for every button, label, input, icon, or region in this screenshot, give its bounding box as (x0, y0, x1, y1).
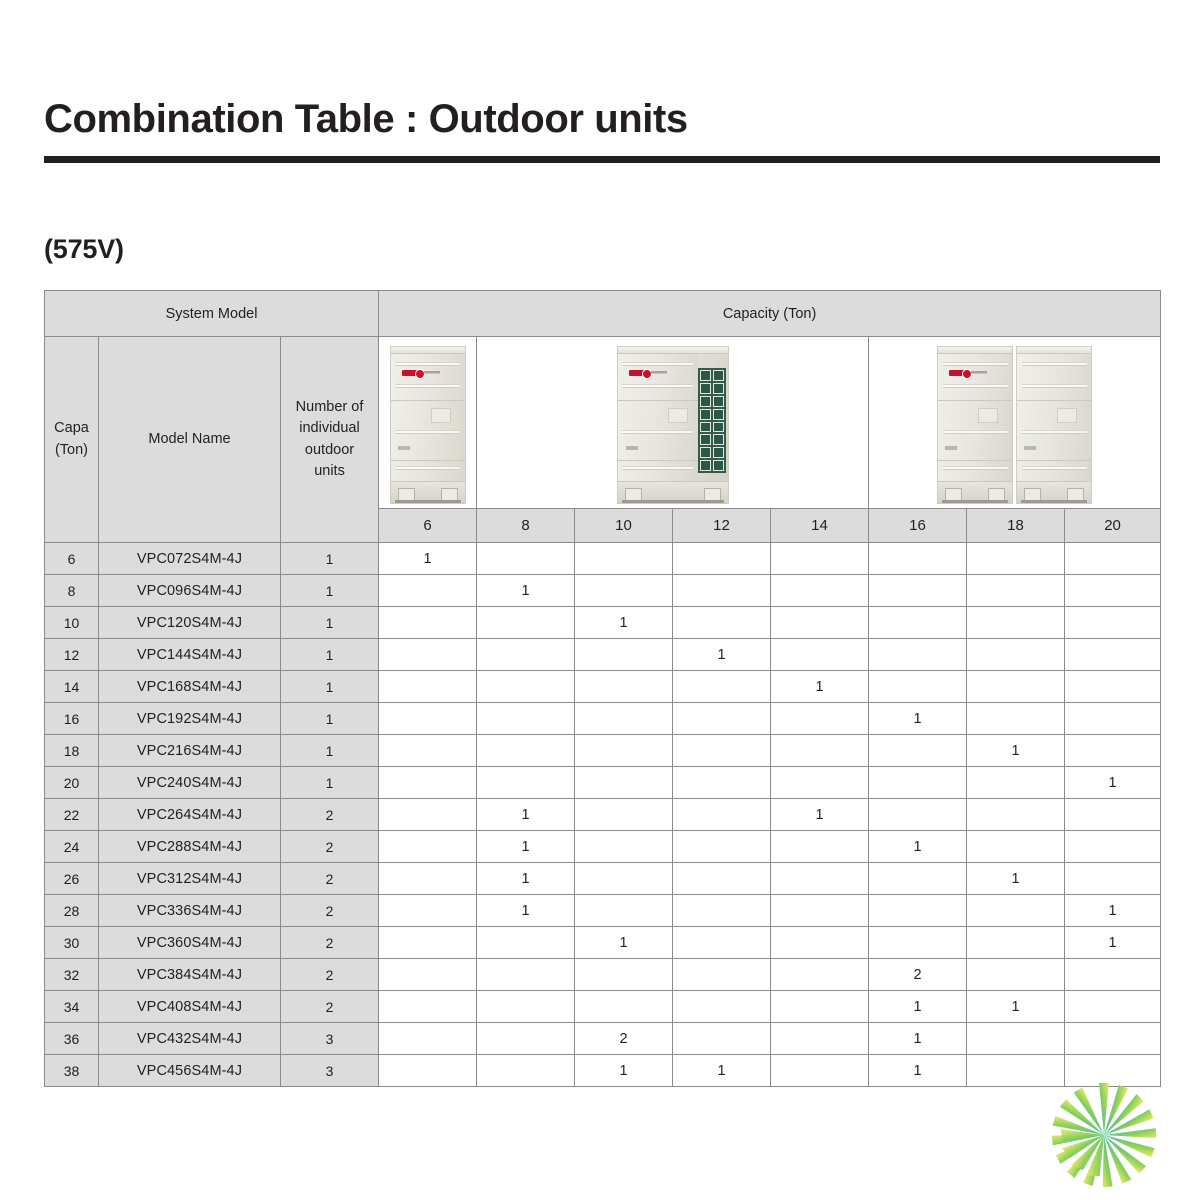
cell-capacity-20 (1065, 863, 1161, 895)
cell-capacity-14 (771, 607, 869, 639)
cell-unit-count: 2 (281, 927, 379, 959)
unit-stage-1 (379, 337, 476, 508)
cell-model-name: VPC456S4M-4J (99, 1055, 281, 1087)
cell-capacity-16 (869, 863, 967, 895)
unit-base (618, 481, 728, 503)
cell-model-name: VPC360S4M-4J (99, 927, 281, 959)
unit-front-panel (938, 354, 1012, 481)
cell-capacity-6 (379, 671, 477, 703)
unit-louver (1022, 362, 1087, 366)
unit-rail (1021, 500, 1087, 503)
cell-capacity-16 (869, 895, 967, 927)
header-capacity: Capacity (Ton) (379, 291, 1161, 337)
cell-capacity-12 (673, 1023, 771, 1055)
cell-capa: 8 (45, 575, 99, 607)
cell-capacity-10 (575, 703, 673, 735)
capacity-col-header-12: 12 (673, 509, 771, 543)
header-units-line4: units (314, 463, 345, 479)
cell-capacity-16 (869, 767, 967, 799)
cell-capacity-20 (1065, 703, 1161, 735)
unit-louver (943, 362, 1008, 366)
cell-capacity-12 (673, 735, 771, 767)
table-head: System Model Capacity (Ton) Capa (Ton) M… (45, 291, 1161, 543)
header-units-line3: outdoor (305, 442, 354, 458)
grille-cell (700, 396, 711, 407)
cell-capacity-18: 1 (967, 991, 1065, 1023)
cell-unit-count: 2 (281, 959, 379, 991)
lennox-wordmark-icon (651, 371, 667, 376)
cell-capacity-6 (379, 959, 477, 991)
cell-capacity-14 (771, 959, 869, 991)
cell-model-name: VPC384S4M-4J (99, 959, 281, 991)
cell-capacity-6 (379, 1023, 477, 1055)
unit-base (1017, 481, 1091, 503)
unit-louver (395, 362, 460, 366)
cell-capacity-18 (967, 895, 1065, 927)
unit-seam (1017, 400, 1091, 401)
cell-unit-count: 1 (281, 735, 379, 767)
cell-capacity-20 (1065, 831, 1161, 863)
grille-cell (713, 460, 724, 471)
cell-capacity-10: 2 (575, 1023, 673, 1055)
cell-capacity-8: 1 (477, 863, 575, 895)
unit-vent-icon (626, 446, 638, 450)
lennox-logo-icon (949, 370, 987, 376)
outdoor-unit-illustration (1016, 346, 1092, 504)
page-root: Combination Table : Outdoor units (575V) (0, 0, 1200, 1200)
cell-capacity-14 (771, 735, 869, 767)
table-row: 24VPC288S4M-4J211 (45, 831, 1161, 863)
cell-model-name: VPC264S4M-4J (99, 799, 281, 831)
cell-capacity-18 (967, 703, 1065, 735)
grille-cell (700, 434, 711, 445)
cell-capacity-20 (1065, 671, 1161, 703)
cell-capacity-8 (477, 607, 575, 639)
cell-capacity-8: 1 (477, 575, 575, 607)
cell-unit-count: 1 (281, 543, 379, 575)
cell-capacity-10 (575, 639, 673, 671)
cell-capacity-18 (967, 639, 1065, 671)
table-row: 6VPC072S4M-4J11 (45, 543, 1161, 575)
cell-capacity-6 (379, 639, 477, 671)
table-row: 28VPC336S4M-4J211 (45, 895, 1161, 927)
cell-capa: 18 (45, 735, 99, 767)
unit-top-cap (391, 347, 465, 354)
unit-seam (618, 460, 698, 461)
header-model-name: Model Name (99, 337, 281, 543)
title-divider (44, 156, 1160, 163)
outdoor-unit-illustration (937, 346, 1013, 504)
cell-capacity-16 (869, 607, 967, 639)
table-body: 6VPC072S4M-4J118VPC096S4M-4J1110VPC120S4… (45, 543, 1161, 1087)
cell-capacity-6 (379, 991, 477, 1023)
table-row: 14VPC168S4M-4J11 (45, 671, 1161, 703)
cell-capacity-18 (967, 671, 1065, 703)
header-capa-line1: Capa (54, 420, 89, 436)
cell-capacity-20 (1065, 575, 1161, 607)
cell-capacity-12 (673, 767, 771, 799)
starburst-logo (1042, 1080, 1172, 1190)
cell-capacity-12 (673, 607, 771, 639)
cell-capacity-10 (575, 575, 673, 607)
unit-louver (1022, 430, 1087, 434)
cell-capa: 10 (45, 607, 99, 639)
cell-capacity-6 (379, 1055, 477, 1087)
outdoor-unit-image-single-large (477, 337, 869, 509)
cell-capacity-10: 1 (575, 927, 673, 959)
grille-cell (713, 396, 724, 407)
cell-capacity-10 (575, 543, 673, 575)
cell-capacity-12 (673, 799, 771, 831)
grille-cell (713, 370, 724, 381)
cell-capacity-8 (477, 703, 575, 735)
header-units-line2: individual (299, 420, 359, 436)
cell-capacity-16 (869, 575, 967, 607)
cell-capacity-14 (771, 991, 869, 1023)
grille-cell (713, 409, 724, 420)
unit-stage-3 (869, 337, 1160, 508)
capacity-col-header-10: 10 (575, 509, 673, 543)
cell-model-name: VPC432S4M-4J (99, 1023, 281, 1055)
cell-capacity-20 (1065, 735, 1161, 767)
cell-capacity-20 (1065, 799, 1161, 831)
cell-capacity-8 (477, 927, 575, 959)
cell-model-name: VPC216S4M-4J (99, 735, 281, 767)
cell-capacity-16 (869, 543, 967, 575)
unit-louver (943, 384, 1008, 388)
unit-louver (1022, 384, 1087, 388)
stub-and-image-row: Capa (Ton) Model Name Number of individu… (45, 337, 1161, 509)
table-row: 8VPC096S4M-4J11 (45, 575, 1161, 607)
table-row: 10VPC120S4M-4J11 (45, 607, 1161, 639)
cell-capacity-18: 1 (967, 735, 1065, 767)
cell-capacity-18 (967, 543, 1065, 575)
voltage-subtitle: (575V) (44, 234, 124, 265)
cell-capacity-8 (477, 991, 575, 1023)
cell-model-name: VPC312S4M-4J (99, 863, 281, 895)
cell-model-name: VPC168S4M-4J (99, 671, 281, 703)
cell-capacity-16 (869, 735, 967, 767)
table-row: 18VPC216S4M-4J11 (45, 735, 1161, 767)
cell-capacity-18 (967, 831, 1065, 863)
unit-seam (938, 460, 1012, 461)
outdoor-unit-image-single-small (379, 337, 477, 509)
cell-capacity-12 (673, 863, 771, 895)
group-header-row: System Model Capacity (Ton) (45, 291, 1161, 337)
cell-capacity-18 (967, 959, 1065, 991)
lennox-mark-icon (629, 370, 649, 376)
unit-access-hatch (978, 408, 998, 423)
unit-seam (391, 400, 465, 401)
cell-capacity-6 (379, 927, 477, 959)
cell-capacity-8 (477, 1055, 575, 1087)
cell-capa: 28 (45, 895, 99, 927)
unit-body (938, 354, 1012, 481)
cell-capa: 26 (45, 863, 99, 895)
cell-capacity-6 (379, 895, 477, 927)
cell-capacity-10 (575, 863, 673, 895)
cell-unit-count: 2 (281, 895, 379, 927)
unit-heat-exchanger-grille (698, 368, 726, 473)
unit-louver (622, 362, 692, 366)
cell-capacity-8 (477, 959, 575, 991)
cell-capacity-8 (477, 1023, 575, 1055)
grille-cell (700, 383, 711, 394)
cell-capacity-6 (379, 767, 477, 799)
cell-model-name: VPC096S4M-4J (99, 575, 281, 607)
cell-capacity-10 (575, 767, 673, 799)
cell-capacity-16 (869, 927, 967, 959)
cell-model-name: VPC408S4M-4J (99, 991, 281, 1023)
cell-capacity-20 (1065, 991, 1161, 1023)
unit-base (938, 481, 1012, 503)
cell-capacity-6 (379, 735, 477, 767)
unit-rail (942, 500, 1008, 503)
cell-capacity-20: 1 (1065, 895, 1161, 927)
cell-capacity-8 (477, 639, 575, 671)
cell-capacity-16: 1 (869, 831, 967, 863)
cell-capa: 14 (45, 671, 99, 703)
outdoor-unit-image-dual (869, 337, 1161, 509)
cell-capacity-12 (673, 959, 771, 991)
cell-capacity-6 (379, 575, 477, 607)
cell-capacity-20 (1065, 607, 1161, 639)
cell-unit-count: 1 (281, 767, 379, 799)
cell-capacity-14 (771, 767, 869, 799)
cell-capacity-10 (575, 991, 673, 1023)
header-system-model: System Model (45, 291, 379, 337)
lennox-logo-icon (402, 370, 440, 376)
unit-louver (1022, 466, 1087, 470)
header-capa: Capa (Ton) (45, 337, 99, 543)
cell-capa: 6 (45, 543, 99, 575)
cell-capacity-8: 1 (477, 799, 575, 831)
unit-body (391, 354, 465, 481)
cell-capacity-18 (967, 1023, 1065, 1055)
cell-model-name: VPC144S4M-4J (99, 639, 281, 671)
cell-unit-count: 3 (281, 1055, 379, 1087)
unit-seam (938, 400, 1012, 401)
cell-capacity-8 (477, 767, 575, 799)
cell-capacity-16 (869, 639, 967, 671)
unit-seam (618, 400, 698, 401)
unit-seam (391, 460, 465, 461)
unit-rail (395, 500, 461, 503)
unit-louver (622, 466, 692, 470)
cell-capacity-16 (869, 799, 967, 831)
unit-louver (395, 466, 460, 470)
unit-front-panel (618, 354, 698, 481)
cell-capacity-12 (673, 895, 771, 927)
cell-capacity-10: 1 (575, 607, 673, 639)
unit-body (618, 354, 728, 481)
lennox-mark-icon (949, 370, 969, 376)
cell-capacity-14 (771, 831, 869, 863)
cell-unit-count: 2 (281, 991, 379, 1023)
unit-louver (622, 430, 692, 434)
table-row: 16VPC192S4M-4J11 (45, 703, 1161, 735)
cell-unit-count: 1 (281, 703, 379, 735)
table-row: 26VPC312S4M-4J211 (45, 863, 1161, 895)
cell-model-name: VPC192S4M-4J (99, 703, 281, 735)
cell-capacity-6 (379, 703, 477, 735)
cell-capacity-8: 1 (477, 895, 575, 927)
cell-unit-count: 1 (281, 671, 379, 703)
header-capa-line2: (Ton) (55, 442, 88, 458)
cell-capa: 32 (45, 959, 99, 991)
capacity-col-header-20: 20 (1065, 509, 1161, 543)
unit-top-cap (1017, 347, 1091, 354)
cell-unit-count: 1 (281, 639, 379, 671)
cell-capacity-10 (575, 671, 673, 703)
cell-capacity-20 (1065, 543, 1161, 575)
unit-vent-icon (1024, 446, 1036, 450)
table-row: 34VPC408S4M-4J211 (45, 991, 1161, 1023)
unit-louver (943, 466, 1008, 470)
cell-capacity-12 (673, 927, 771, 959)
cell-capacity-12: 1 (673, 639, 771, 671)
cell-capacity-18: 1 (967, 863, 1065, 895)
cell-capacity-18 (967, 799, 1065, 831)
title-block: Combination Table : Outdoor units (44, 96, 1160, 163)
combination-table: System Model Capacity (Ton) Capa (Ton) M… (44, 290, 1161, 1087)
cell-capacity-16: 1 (869, 991, 967, 1023)
cell-model-name: VPC240S4M-4J (99, 767, 281, 799)
cell-unit-count: 2 (281, 863, 379, 895)
unit-base (391, 481, 465, 503)
grille-cell (700, 370, 711, 381)
cell-capa: 38 (45, 1055, 99, 1087)
cell-capacity-18 (967, 575, 1065, 607)
unit-top-cap (618, 347, 728, 354)
cell-capacity-6 (379, 831, 477, 863)
cell-capacity-14 (771, 1023, 869, 1055)
header-units-line1: Number of (296, 399, 364, 415)
cell-capacity-12: 1 (673, 1055, 771, 1087)
cell-capa: 36 (45, 1023, 99, 1055)
cell-capacity-6 (379, 863, 477, 895)
cell-unit-count: 2 (281, 831, 379, 863)
cell-capacity-20: 1 (1065, 927, 1161, 959)
lennox-logo-icon (629, 370, 667, 376)
cell-capacity-16: 1 (869, 703, 967, 735)
grille-cell (713, 383, 724, 394)
grille-cell (700, 460, 711, 471)
cell-capacity-8 (477, 671, 575, 703)
table-row: 30VPC360S4M-4J211 (45, 927, 1161, 959)
cell-capacity-20 (1065, 1023, 1161, 1055)
unit-louver (395, 384, 460, 388)
unit-front-panel (391, 354, 465, 481)
unit-louver (943, 430, 1008, 434)
cell-capacity-8 (477, 543, 575, 575)
unit-body (1017, 354, 1091, 481)
cell-capa: 20 (45, 767, 99, 799)
cell-capacity-14 (771, 703, 869, 735)
cell-capacity-12 (673, 543, 771, 575)
unit-access-hatch (668, 408, 688, 423)
cell-capacity-14 (771, 575, 869, 607)
grille-cell (700, 422, 711, 433)
grille-cell (713, 447, 724, 458)
unit-louver (622, 384, 692, 388)
capacity-col-header-16: 16 (869, 509, 967, 543)
cell-capa: 16 (45, 703, 99, 735)
cell-capacity-18 (967, 607, 1065, 639)
cell-capacity-18 (967, 767, 1065, 799)
grille-cell (700, 447, 711, 458)
page-title: Combination Table : Outdoor units (44, 96, 1160, 142)
cell-capacity-16: 1 (869, 1023, 967, 1055)
cell-capacity-14 (771, 639, 869, 671)
unit-access-hatch (431, 408, 451, 423)
cell-capacity-20: 1 (1065, 767, 1161, 799)
cell-capa: 24 (45, 831, 99, 863)
cell-unit-count: 3 (281, 1023, 379, 1055)
table-row: 36VPC432S4M-4J321 (45, 1023, 1161, 1055)
table-row: 12VPC144S4M-4J11 (45, 639, 1161, 671)
cell-capa: 12 (45, 639, 99, 671)
cell-capacity-8 (477, 735, 575, 767)
cell-capa: 34 (45, 991, 99, 1023)
cell-capacity-16: 1 (869, 1055, 967, 1087)
cell-capacity-10: 1 (575, 1055, 673, 1087)
cell-capacity-14 (771, 895, 869, 927)
cell-capacity-12 (673, 575, 771, 607)
cell-unit-count: 1 (281, 575, 379, 607)
table-row: 20VPC240S4M-4J11 (45, 767, 1161, 799)
capacity-col-header-6: 6 (379, 509, 477, 543)
unit-vent-icon (398, 446, 410, 450)
outdoor-unit-illustration (617, 346, 729, 504)
cell-capacity-16: 2 (869, 959, 967, 991)
unit-rail (622, 500, 724, 503)
unit-front-panel (1017, 354, 1091, 481)
cell-capacity-14 (771, 543, 869, 575)
lennox-wordmark-icon (971, 371, 987, 376)
cell-capa: 22 (45, 799, 99, 831)
cell-capacity-6 (379, 799, 477, 831)
cell-capacity-10 (575, 959, 673, 991)
capacity-col-header-18: 18 (967, 509, 1065, 543)
unit-stage-2 (477, 337, 868, 508)
combination-table-wrapper: System Model Capacity (Ton) Capa (Ton) M… (44, 290, 1160, 1087)
cell-capacity-14 (771, 863, 869, 895)
cell-capacity-14 (771, 1055, 869, 1087)
grille-cell (713, 434, 724, 445)
table-row: 38VPC456S4M-4J3111 (45, 1055, 1161, 1087)
cell-capacity-12 (673, 703, 771, 735)
cell-capacity-12 (673, 831, 771, 863)
cell-capacity-10 (575, 831, 673, 863)
header-number-of-units: Number of individual outdoor units (281, 337, 379, 543)
cell-capacity-14 (771, 927, 869, 959)
unit-access-hatch (1057, 408, 1077, 423)
cell-capacity-12 (673, 991, 771, 1023)
cell-capacity-12 (673, 671, 771, 703)
cell-capacity-10 (575, 799, 673, 831)
cell-model-name: VPC288S4M-4J (99, 831, 281, 863)
cell-capa: 30 (45, 927, 99, 959)
cell-capacity-20 (1065, 959, 1161, 991)
cell-capacity-10 (575, 895, 673, 927)
grille-cell (713, 422, 724, 433)
cell-model-name: VPC336S4M-4J (99, 895, 281, 927)
table-row: 32VPC384S4M-4J22 (45, 959, 1161, 991)
cell-capacity-8: 1 (477, 831, 575, 863)
capacity-col-header-8: 8 (477, 509, 575, 543)
cell-capacity-16 (869, 671, 967, 703)
